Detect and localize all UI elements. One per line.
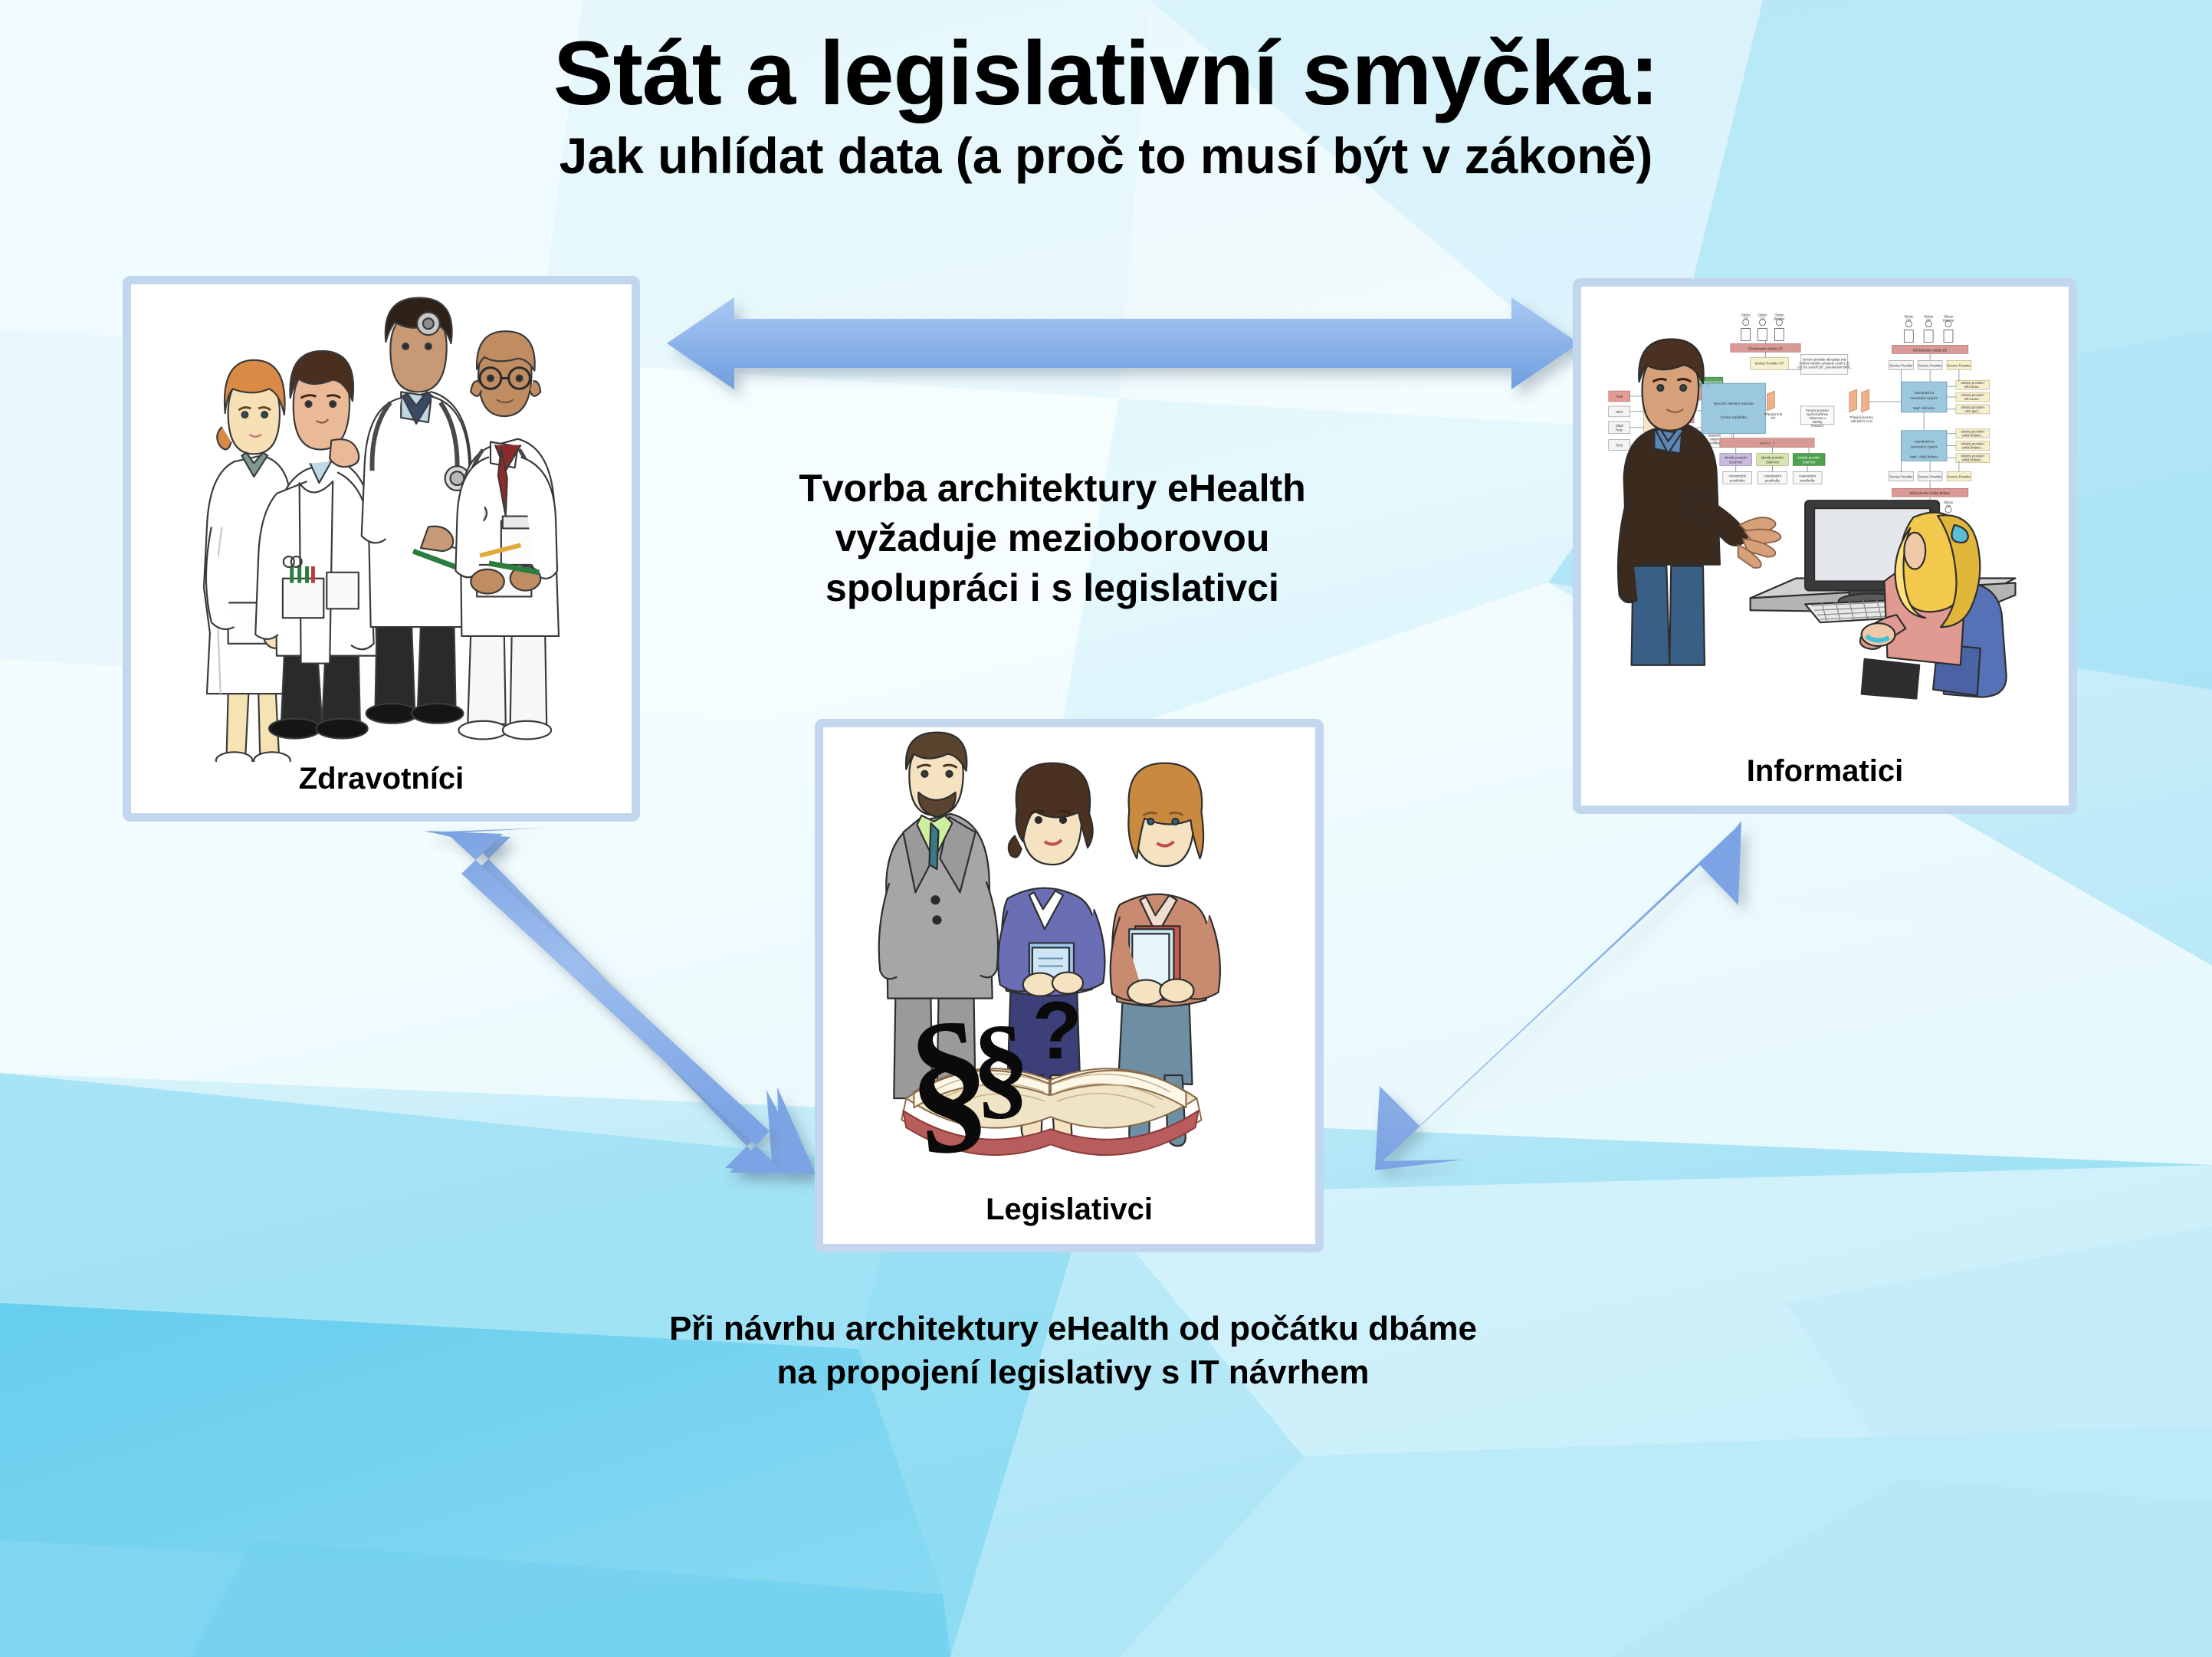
svg-text:EnaPoint: EnaPoint — [1803, 460, 1817, 464]
svg-text:velká Británie...: velká Británie... — [1962, 434, 1984, 438]
arrow-zdravotnici-informatici — [667, 296, 1579, 403]
svg-text:něm.autor...: něm.autor... — [1964, 397, 1981, 401]
arrow-zdravotnici-legislativci — [420, 826, 819, 1179]
page-title: Stát a legislativní smyčka: — [0, 26, 2212, 122]
svg-text:ČR: ČR — [1946, 504, 1951, 508]
card-zdravotnici[interactable]: Zdravotníci — [123, 276, 640, 822]
svg-text:ČR: ČR — [1761, 317, 1765, 321]
legislators-illustration: § § ? — [823, 727, 1315, 1193]
caption-center-line2: vyžaduje mezioborovou — [646, 514, 1459, 563]
svg-text:§: § — [969, 1000, 1033, 1131]
svg-text:což lze zneužít při _pseudonym: což lze zneužít při _pseudonym běhů, — [1797, 365, 1851, 369]
svg-text:Důvěryhodné služby DE: Důvěryhodné služby DE — [1913, 348, 1948, 352]
svg-text:Británie: Británie — [1774, 317, 1785, 321]
svg-text:Autorizační Systém: Autorizační Systém — [1910, 445, 1938, 449]
card-legislativci[interactable]: § § ? Legislativci — [815, 719, 1324, 1252]
svg-text:Např. Velká Británie: Např. Velká Británie — [1910, 455, 1938, 459]
svg-text:Důvěryhodné služby Británie: Důvěryhodné služby Británie — [1910, 491, 1951, 495]
caption-center-line1: Tvorba architektury eHealth — [646, 464, 1459, 514]
svg-text:EnaPoint: EnaPoint — [1729, 460, 1743, 464]
svg-text:identity provider: identity provider — [1797, 456, 1820, 460]
svg-text:prostředky: prostředky — [1800, 478, 1815, 482]
svg-text:ROB: ROB — [1616, 395, 1623, 399]
arrow-legislativci-informatici — [1340, 816, 1746, 1176]
svg-text:EnaPoint: EnaPoint — [1766, 460, 1780, 464]
svg-text:ČR: ČR — [1906, 319, 1911, 323]
svg-text:Role: Role — [1616, 428, 1623, 432]
svg-text:ORG: ORG — [1616, 410, 1623, 414]
svg-text:Británie: Británie — [1943, 319, 1954, 323]
svg-text:Service Provider: Service Provider — [1889, 474, 1913, 478]
svg-text:Service Provider: Service Provider — [1948, 363, 1971, 367]
svg-text:Autentizační a: Autentizační a — [1914, 440, 1935, 444]
svg-text:Autorizační Systém: Autorizační Systém — [1910, 396, 1938, 400]
svg-text:ČR: ČR — [1771, 416, 1775, 420]
svg-text:Např. Německo: Např. Německo — [1913, 406, 1936, 410]
healthcare-workers-illustration — [131, 284, 632, 762]
caption-center: Tvorba architektury eHealth vyžaduje mez… — [646, 464, 1459, 613]
svg-text:identity provider: identity provider — [1761, 456, 1784, 460]
svg-text:velká Británie...: velká Británie... — [1962, 458, 1984, 461]
svg-text:ROS: ROS — [1616, 444, 1623, 448]
caption-bottom-line1: Při návrhu architektury eHealth od počát… — [475, 1307, 1671, 1350]
caption-bottom: Při návrhu architektury eHealth od počát… — [475, 1307, 1671, 1394]
svg-text:Autentizační: Autentizační — [1764, 474, 1782, 477]
svg-text:zahraniční AAS: zahraniční AAS — [1850, 419, 1872, 423]
page-subtitle: Jak uhlídat data (a proč to musí být v z… — [0, 128, 2212, 184]
svg-text:ČR: ČR — [1744, 317, 1748, 321]
card-label-informatici: Informatici — [1747, 754, 1903, 806]
caption-bottom-line2: na propojení legislativy s IT návrhem — [475, 1350, 1671, 1394]
svg-text:Autentizační: Autentizační — [1799, 474, 1817, 477]
svg-text:prostředky: prostředky — [1730, 478, 1745, 482]
svg-text:Service Provider: Service Provider — [1889, 363, 1913, 367]
svg-text:Autentizační: Autentizační — [1728, 474, 1747, 477]
svg-text:ČR: ČR — [1926, 319, 1931, 323]
caption-center-line3: spolupráci i s legislativci — [646, 563, 1459, 613]
svg-text:Provider/: Provider/ — [1811, 424, 1824, 428]
svg-text:velká Británie...: velká Británie... — [1962, 446, 1984, 450]
title-block: Stát a legislativní smyčka: Jak uhlídat … — [0, 26, 2212, 184]
svg-text:Úřad/: Úřad/ — [1616, 424, 1624, 428]
svg-text:Česká republika: Česká republika — [1721, 415, 1748, 420]
svg-text:Service Provider ČR: Service Provider ČR — [1755, 361, 1784, 365]
svg-text:Service Provider: Service Provider — [1918, 474, 1942, 478]
card-informatici[interactable]: ObčanČR ObčanČR ObčanBritánie Důvěryhodn… — [1573, 278, 2077, 814]
card-label-zdravotnici: Zdravotníci — [299, 762, 464, 813]
svg-text:Service Provider: Service Provider — [1918, 363, 1942, 367]
svg-text:něm.apol...: něm.apol... — [1965, 409, 1981, 413]
svg-text:Service Provider: Service Provider — [1948, 474, 1971, 478]
card-label-legislativci: Legislativci — [986, 1193, 1153, 1244]
svg-text:?: ? — [1032, 985, 1082, 1076]
svg-text:Důvěryhodné služby ČR: Důvěryhodné služby ČR — [1748, 346, 1783, 350]
svg-text:identity provider: identity provider — [1725, 456, 1748, 460]
svg-text:něm.autor...: něm.autor... — [1964, 385, 1981, 389]
svg-text:Level 1 - 3: Level 1 - 3 — [1760, 441, 1775, 445]
svg-text:prostředky: prostředky — [1765, 478, 1780, 482]
svg-text:Autentizační a: Autentizační a — [1914, 391, 1935, 395]
it-specialists-illustration: ObčanČR ObčanČR ObčanBritánie Důvěryhodn… — [1581, 287, 2069, 754]
svg-text:Národní identitní autorita: Národní identitní autorita — [1714, 402, 1754, 406]
